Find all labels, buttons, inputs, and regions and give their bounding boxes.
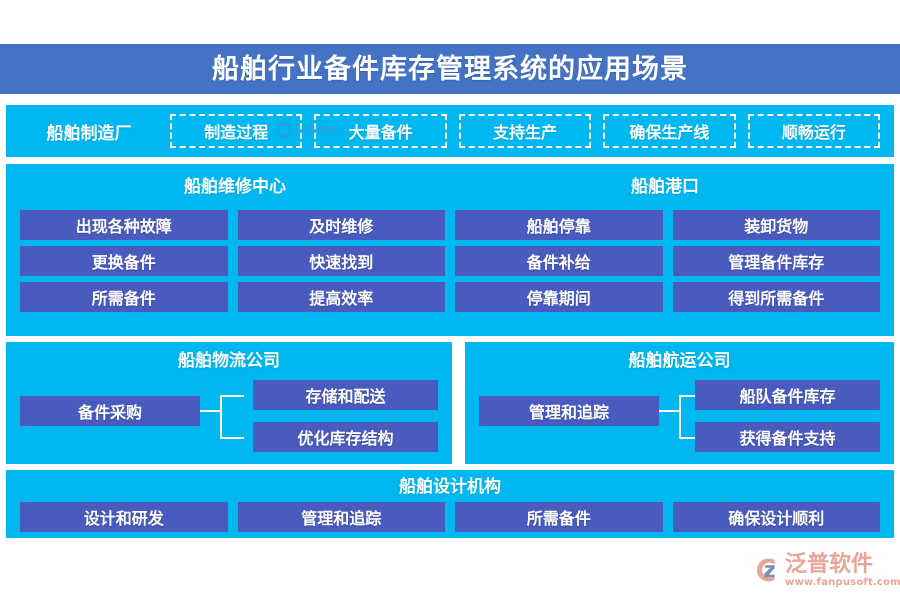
grid-row: 更换备件 快速找到 备件补给 管理备件库存 <box>20 246 880 276</box>
cell-r2c4[interactable]: 管理备件库存 <box>673 246 881 276</box>
fanpu-logo-icon <box>752 555 782 585</box>
cell-r2c3[interactable]: 备件补给 <box>455 246 663 276</box>
logistics-title: 船舶物流公司 <box>20 348 438 374</box>
connector-stem <box>659 410 681 412</box>
design-item-1[interactable]: 设计和研发 <box>20 502 228 532</box>
manufacturer-label: 船舶制造厂 <box>14 119 164 144</box>
header-port: 船舶港口 <box>450 172 880 202</box>
grid-row: 出现各种故障 及时维修 船舶停靠 装卸货物 <box>20 210 880 240</box>
manufacturer-step-2[interactable]: 大量备件 <box>314 114 446 148</box>
connector-arm-top <box>220 395 244 397</box>
brand-logo: 泛普软件 www.fanpusoft.com <box>752 546 896 594</box>
design-item-4[interactable]: 确保设计顺利 <box>673 502 881 532</box>
logistics-branch-group: 备件采购 存储和配送 优化库存结构 <box>20 376 438 456</box>
shipping-branch-1[interactable]: 船队备件库存 <box>695 380 880 410</box>
page-title: 船舶行业备件库存管理系统的应用场景 <box>212 56 688 83</box>
section-design-institution: 船舶设计机构 设计和研发 管理和追踪 所需备件 确保设计顺利 <box>6 470 894 538</box>
page-title-bar: 船舶行业备件库存管理系统的应用场景 <box>0 44 900 94</box>
connector-spine <box>220 395 222 439</box>
cell-r3c1[interactable]: 所需备件 <box>20 282 228 312</box>
panel-shipping: 船舶航运公司 管理和追踪 船队备件库存 获得备件支持 <box>465 342 894 464</box>
shipping-branch-2[interactable]: 获得备件支持 <box>695 422 880 452</box>
manufacturer-step-3[interactable]: 支持生产 <box>459 114 591 148</box>
header-repair-center: 船舶维修中心 <box>20 172 450 202</box>
section-manufacturer: 船舶制造厂 制造过程 大量备件 支持生产 确保生产线 顺畅运行 <box>6 105 894 157</box>
section-two-grid: 出现各种故障 及时维修 船舶停靠 装卸货物 更换备件 快速找到 备件补给 管理备… <box>20 210 880 312</box>
design-item-3[interactable]: 所需备件 <box>455 502 663 532</box>
manufacturer-step-5[interactable]: 顺畅运行 <box>748 114 880 148</box>
logistics-branch-1[interactable]: 存储和配送 <box>253 380 438 410</box>
connector-spine <box>679 395 681 439</box>
infographic-page: 船舶行业备件库存管理系统的应用场景 船舶制造厂 制造过程 大量备件 支持生产 确… <box>0 0 900 600</box>
cell-r1c1[interactable]: 出现各种故障 <box>20 210 228 240</box>
logistics-main-box[interactable]: 备件采购 <box>20 396 200 426</box>
cell-r1c3[interactable]: 船舶停靠 <box>455 210 663 240</box>
cell-r1c2[interactable]: 及时维修 <box>238 210 446 240</box>
cell-r3c4[interactable]: 得到所需备件 <box>673 282 881 312</box>
shipping-main-box[interactable]: 管理和追踪 <box>479 396 659 426</box>
manufacturer-step-1[interactable]: 制造过程 <box>170 114 302 148</box>
grid-row: 所需备件 提高效率 停靠期间 得到所需备件 <box>20 282 880 312</box>
connector-stem <box>200 410 222 412</box>
section-repair-and-port: 船舶维修中心 船舶港口 出现各种故障 及时维修 船舶停靠 装卸货物 更换备件 快… <box>6 164 894 336</box>
cell-r3c2[interactable]: 提高效率 <box>238 282 446 312</box>
design-item-2[interactable]: 管理和追踪 <box>238 502 446 532</box>
section-logistics-and-shipping: 船舶物流公司 备件采购 存储和配送 优化库存结构 船舶航运公司 管理和追踪 船队… <box>6 342 894 464</box>
connector-arm-bottom <box>220 437 244 439</box>
panel-logistics: 船舶物流公司 备件采购 存储和配送 优化库存结构 <box>6 342 452 464</box>
cell-r3c3[interactable]: 停靠期间 <box>455 282 663 312</box>
logistics-branch-2[interactable]: 优化库存结构 <box>253 422 438 452</box>
design-title: 船舶设计机构 <box>20 474 880 500</box>
shipping-branch-group: 管理和追踪 船队备件库存 获得备件支持 <box>479 376 880 456</box>
logo-text-group: 泛普软件 www.fanpusoft.com <box>785 553 900 588</box>
section-two-headers: 船舶维修中心 船舶港口 <box>20 172 880 202</box>
manufacturer-step-4[interactable]: 确保生产线 <box>603 114 735 148</box>
cell-r2c1[interactable]: 更换备件 <box>20 246 228 276</box>
design-items-row: 设计和研发 管理和追踪 所需备件 确保设计顺利 <box>20 502 880 532</box>
shipping-title: 船舶航运公司 <box>479 348 880 374</box>
cell-r2c2[interactable]: 快速找到 <box>238 246 446 276</box>
cell-r1c4[interactable]: 装卸货物 <box>673 210 881 240</box>
logo-company-name: 泛普软件 <box>785 553 900 577</box>
logo-website-url: www.fanpusoft.com <box>785 577 900 588</box>
